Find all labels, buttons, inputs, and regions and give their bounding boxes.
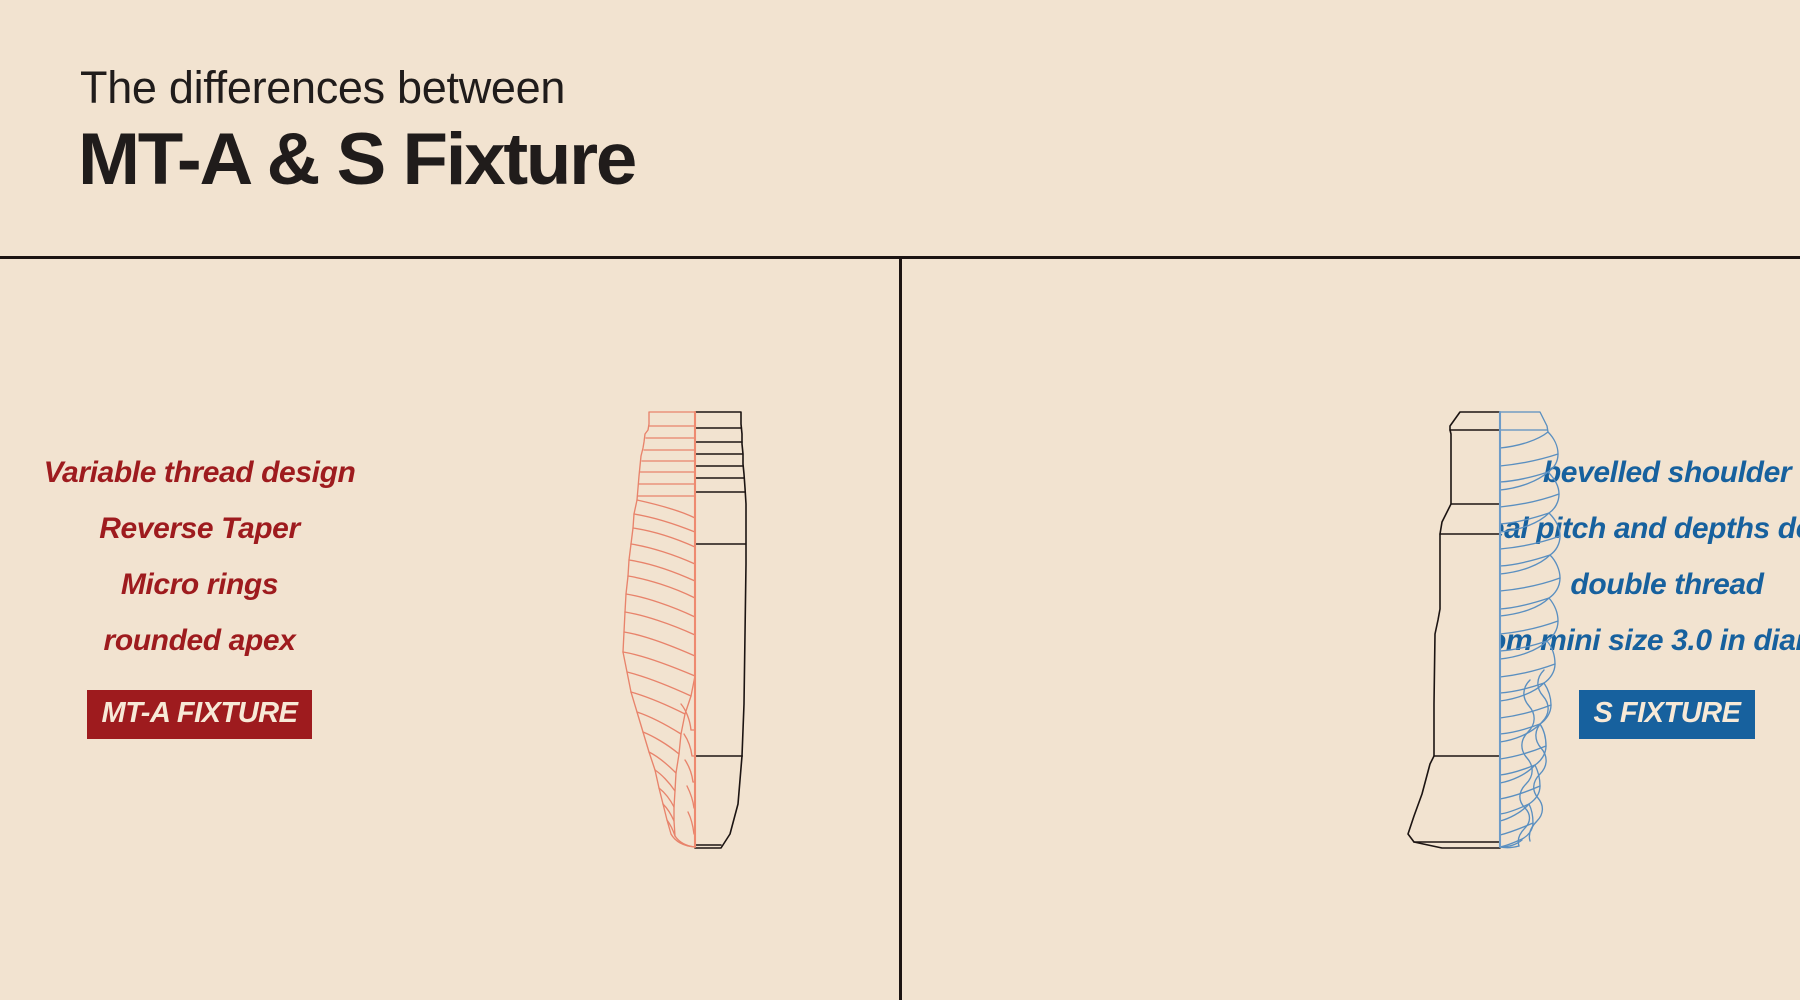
status-badge-mt-a-fixture: MT-A FIXTURE [87,690,313,739]
silhouette-half [1408,412,1500,848]
thread-half [623,412,695,847]
s-fixture-implant-drawing [1350,404,1650,894]
page-header: The differences between MT-A & S Fixture [0,0,1800,257]
infographic-page: The differences between MT-A & S Fixture… [0,0,1800,1000]
panel-s-fixture: bevelled shoulder ideal pitch and depths… [902,259,1800,1000]
header-eyebrow: The differences between [80,62,565,114]
thread-half [1500,412,1560,848]
silhouette-half [695,412,746,848]
mt-a-fixture-implant-drawing [545,404,845,894]
panel-mt-a: Variable thread design Reverse Taper Mic… [0,259,899,1000]
page-title: MT-A & S Fixture [78,118,635,201]
